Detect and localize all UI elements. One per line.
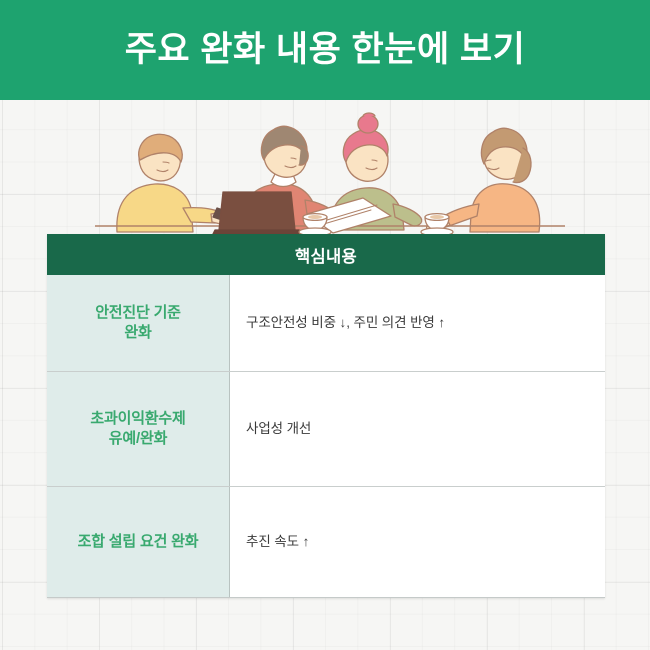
table-header-label: 핵심내용 xyxy=(295,243,357,267)
row-content-cell: 추진 속도 ↑ xyxy=(230,487,605,597)
row-label-text: 초과이익환수제유예/완화 xyxy=(90,409,185,450)
table-row: 안전진단 기준완화 구조안전성 비중 ↓, 주민 의견 반영 ↑ xyxy=(47,275,605,372)
row-content-cell: 사업성 개선 xyxy=(230,372,605,486)
row-label-text: 조합 설립 요건 완화 xyxy=(78,532,199,552)
page-title: 주요 완화 내용 한눈에 보기 xyxy=(125,32,526,69)
infographic-canvas: 주요 완화 내용 한눈에 보기 xyxy=(0,0,650,650)
row-label-cell: 안전진단 기준완화 xyxy=(47,275,230,371)
row-label-cell: 조합 설립 요건 완화 xyxy=(47,487,230,597)
header-banner: 주요 완화 내용 한눈에 보기 xyxy=(0,0,650,100)
table-header: 핵심내용 xyxy=(47,234,605,275)
meeting-illustration xyxy=(95,104,565,236)
table-row: 조합 설립 요건 완화 추진 속도 ↑ xyxy=(47,487,605,598)
row-content-text: 구조안전성 비중 ↓, 주민 의견 반영 ↑ xyxy=(246,313,445,333)
row-content-cell: 구조안전성 비중 ↓, 주민 의견 반영 ↑ xyxy=(230,275,605,371)
row-label-cell: 초과이익환수제유예/완화 xyxy=(47,372,230,486)
table-row: 초과이익환수제유예/완화 사업성 개선 xyxy=(47,372,605,487)
row-content-text: 추진 속도 ↑ xyxy=(246,532,309,552)
row-label-text: 안전진단 기준완화 xyxy=(95,303,181,344)
row-content-text: 사업성 개선 xyxy=(246,419,311,439)
summary-table: 핵심내용 안전진단 기준완화 구조안전성 비중 ↓, 주민 의견 반영 ↑ 초과… xyxy=(47,234,605,598)
